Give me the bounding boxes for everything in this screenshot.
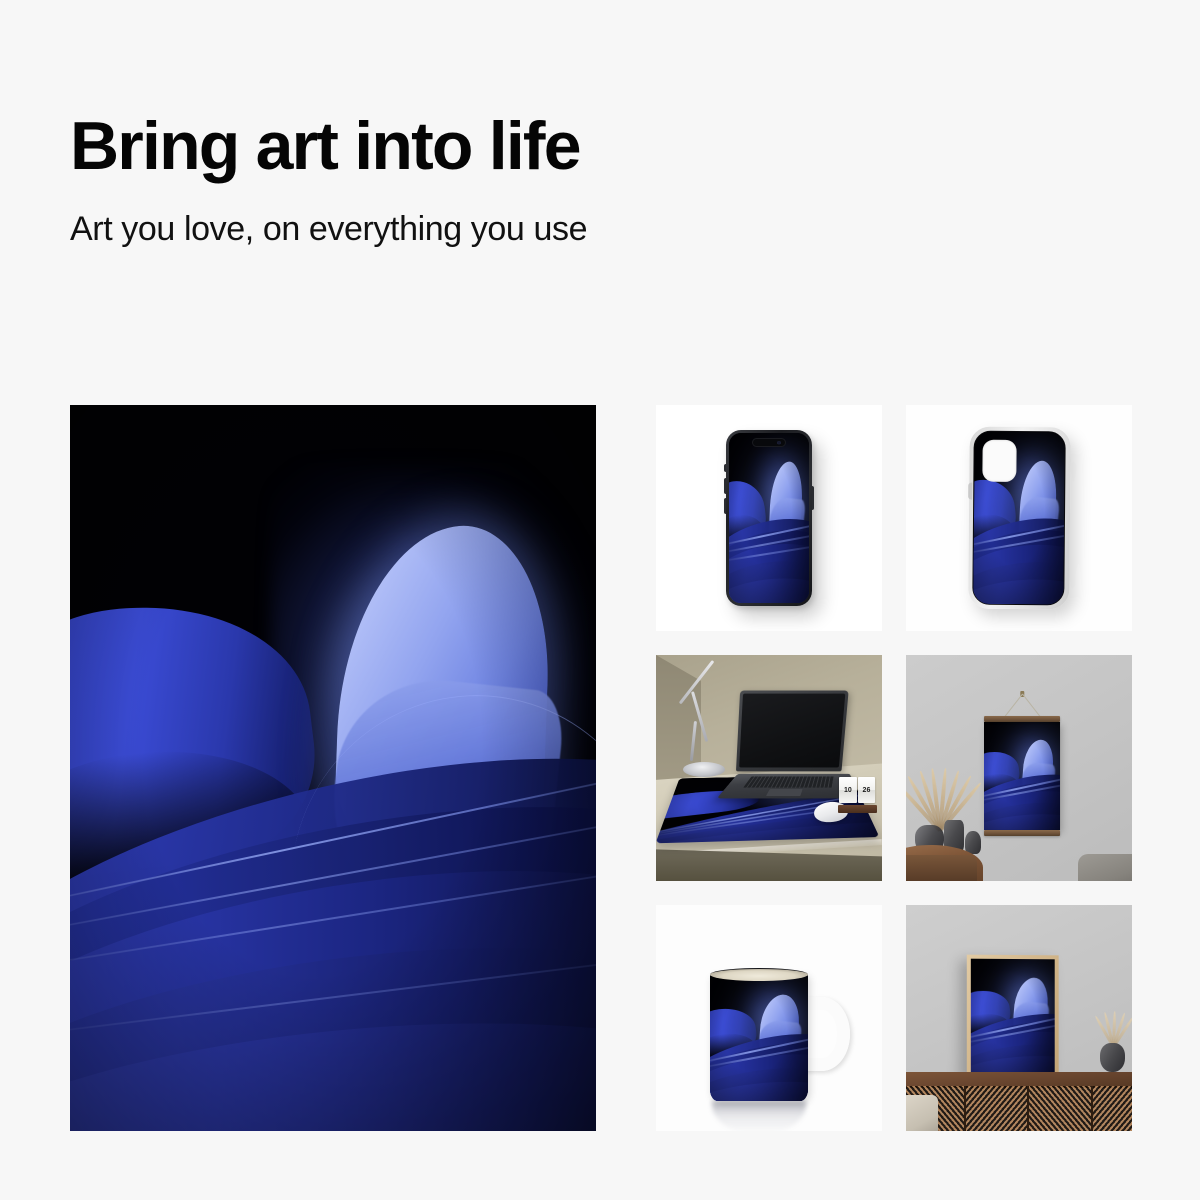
phone-artwork <box>729 433 809 603</box>
wooden-sideboard <box>906 1072 1132 1131</box>
mug-product <box>710 973 808 1101</box>
laptop <box>728 691 850 804</box>
sofa <box>1078 854 1132 881</box>
mockup-mug[interactable] <box>656 905 882 1131</box>
phone-case <box>972 431 1066 606</box>
mockup-phone-wallpaper[interactable] <box>656 405 882 631</box>
product-gallery: 10 26 <box>70 405 1131 1131</box>
hanging-poster-product <box>984 716 1060 836</box>
phone-device <box>726 430 812 606</box>
calendar-month: 10 <box>839 777 857 803</box>
framed-print-scene <box>906 905 1132 1131</box>
artwork-canvas <box>70 405 596 1131</box>
page-title: Bring art into life <box>70 112 587 181</box>
pampas-grass <box>1096 1011 1128 1047</box>
header: Bring art into life Art you love, on eve… <box>70 112 587 249</box>
armchair <box>906 1095 938 1131</box>
hero-artwork[interactable] <box>70 405 596 1131</box>
mockup-hanging-poster[interactable] <box>906 655 1132 881</box>
mockup-desk-mat[interactable]: 10 26 <box>656 655 882 881</box>
mug-rim <box>710 968 808 981</box>
flip-calendar: 10 26 <box>839 777 875 813</box>
hanging-poster-scene <box>906 655 1132 881</box>
desk-scene: 10 26 <box>656 655 882 881</box>
mockup-phone-case[interactable] <box>906 405 1132 631</box>
mockup-framed-print[interactable] <box>906 905 1132 1131</box>
framed-artwork <box>971 958 1055 1073</box>
camera-cutout-icon <box>982 440 1016 482</box>
ceramic-vase <box>1100 1043 1125 1072</box>
calendar-day: 26 <box>858 777 876 803</box>
mockup-grid: 10 26 <box>656 405 1132 1131</box>
page-root: Bring art into life Art you love, on eve… <box>0 0 1200 1200</box>
dynamic-island-icon <box>752 438 786 447</box>
mug-artwork <box>710 973 808 1101</box>
page-subtitle: Art you love, on everything you use <box>70 211 587 248</box>
picture-frame <box>967 954 1059 1077</box>
poster-artwork <box>984 722 1060 830</box>
